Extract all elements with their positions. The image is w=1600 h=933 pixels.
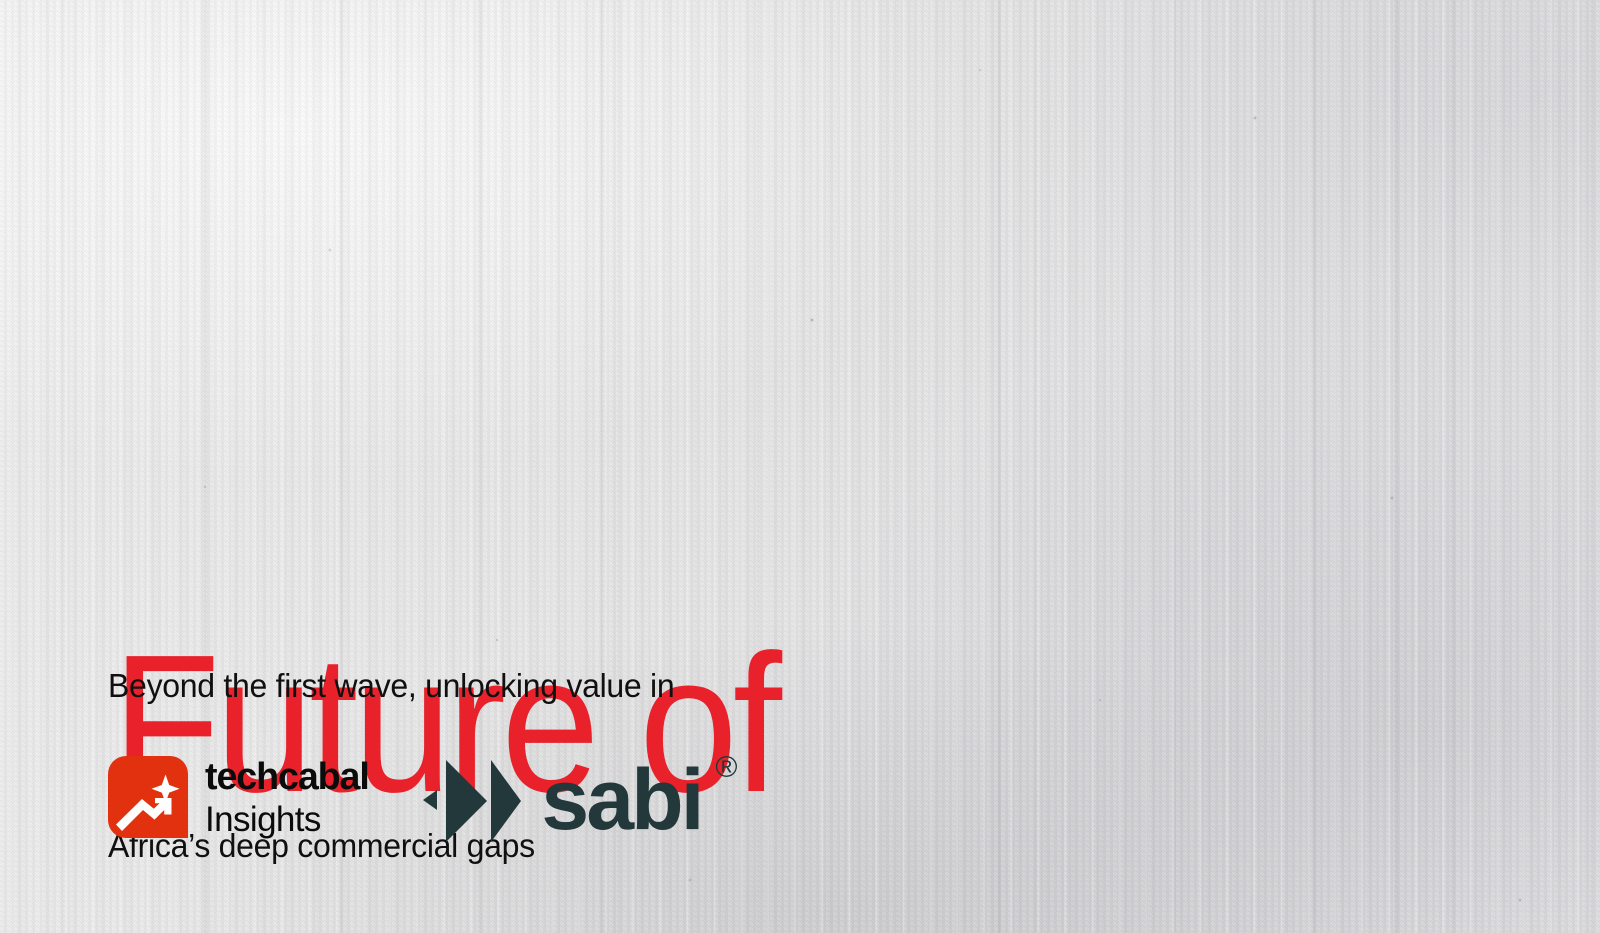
subtitle: Beyond the first wave, unlocking value i… xyxy=(108,552,674,933)
techcabal-name: techcabal xyxy=(205,758,369,796)
poster-canvas: Future of Commerce Beyond the first wave… xyxy=(0,0,1600,933)
poster-content: Future of Commerce Beyond the first wave… xyxy=(0,0,1600,933)
sabi-double-chevron-icon xyxy=(415,754,521,846)
subtitle-line-1: Beyond the first wave, unlocking value i… xyxy=(108,659,674,712)
sabi-registered-mark: ® xyxy=(715,753,737,783)
logo-row: techcabal Insights sabi® xyxy=(108,748,702,846)
techcabal-sub: Insights xyxy=(205,802,370,837)
techcabal-trend-arrow-sparkle-icon xyxy=(108,756,188,838)
techcabal-wordmark: techcabal Insights xyxy=(205,758,370,837)
techcabal-insights-logo: techcabal Insights xyxy=(108,756,370,838)
sabi-name: sabi xyxy=(541,752,701,848)
sabi-wordmark: sabi® xyxy=(541,757,701,843)
sabi-logo: sabi® xyxy=(415,754,701,846)
